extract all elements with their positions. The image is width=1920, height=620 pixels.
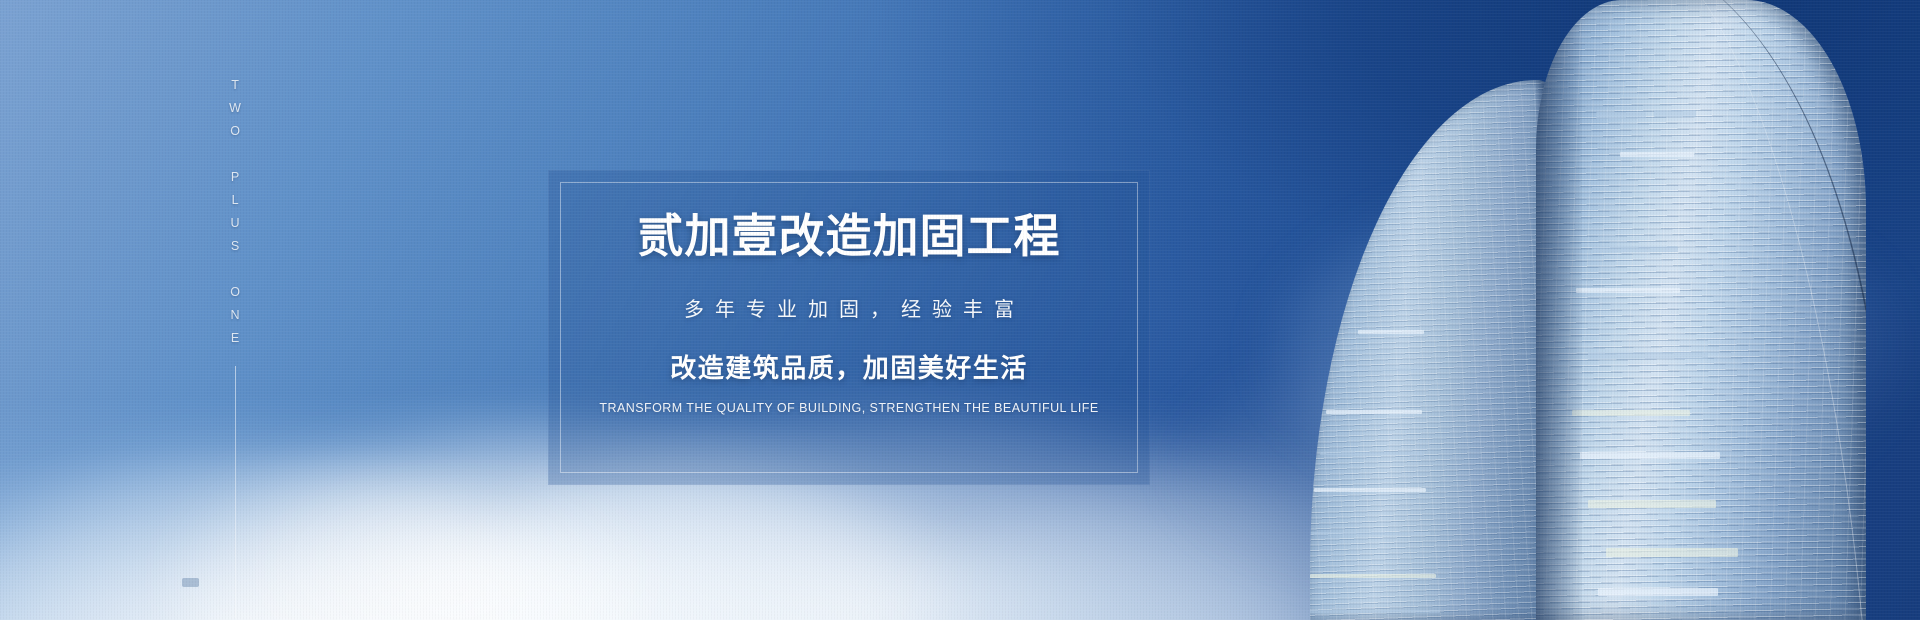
- slogan-chinese: 改造建筑品质，加固美好生活: [670, 348, 1028, 385]
- page-subtitle: 多年专业加固，经验丰富: [673, 293, 1025, 322]
- glass-tower-front: [1536, 0, 1866, 620]
- page-title: 贰加壹改造加固工程: [638, 213, 1061, 259]
- tower-window-lights: [1310, 80, 1550, 620]
- tower-left-shadow: [1536, 0, 1582, 620]
- hero-text-panel: 贰加壹改造加固工程 多年专业加固，经验丰富 改造建筑品质，加固美好生活 TRAN…: [548, 170, 1150, 485]
- hero-text-panel-border: 贰加壹改造加固工程 多年专业加固，经验丰富 改造建筑品质，加固美好生活 TRAN…: [560, 182, 1138, 473]
- skyscraper-photo: [1300, 0, 1920, 620]
- decorative-mark: [182, 578, 199, 587]
- hero-banner: TWO PLUS ONE 贰加壹改造加固工程 多年专业加固，经验丰富 改造建筑品…: [0, 0, 1920, 620]
- vertical-wordmark-text: TWO PLUS ONE: [221, 78, 249, 354]
- vertical-rule: [235, 366, 236, 618]
- vertical-wordmark: TWO PLUS ONE: [222, 78, 248, 618]
- glass-tower-rear: [1310, 80, 1550, 620]
- slogan-english: TRANSFORM THE QUALITY OF BUILDING, STREN…: [599, 401, 1098, 415]
